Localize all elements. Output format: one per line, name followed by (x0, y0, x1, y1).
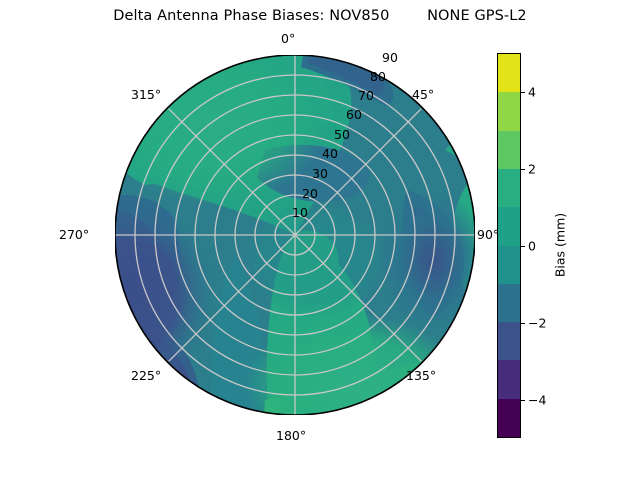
colorbar-tick-neg2 (521, 323, 525, 324)
theta-label-315: 315° (131, 87, 161, 102)
colorbar-ticklabel-4: 4 (528, 84, 536, 99)
colorbar-tick-neg4 (521, 400, 525, 401)
colorbar-band-3 (498, 284, 520, 322)
page-title: Delta Antenna Phase Biases: NOV850 NONE … (0, 8, 640, 24)
colorbar-tick-0 (521, 246, 525, 247)
colorbar-band-9 (498, 54, 520, 92)
theta-label-180: 180° (276, 428, 306, 443)
colorbar-tick-4 (521, 92, 525, 93)
r-label-90: 90 (382, 50, 398, 65)
colorbar-band-7 (498, 131, 520, 169)
theta-label-270: 270° (59, 227, 89, 242)
colorbar-axis-label: Bias (mm) (553, 213, 568, 277)
colorbar-tick-2 (521, 169, 525, 170)
r-label-70: 70 (358, 88, 374, 103)
theta-label-45: 45° (412, 87, 434, 102)
r-label-40: 40 (322, 146, 338, 161)
theta-label-225: 225° (131, 368, 161, 383)
colorbar-ticklabel-neg4: −4 (528, 392, 546, 407)
colorbar-ticklabel-0: 0 (528, 238, 536, 253)
colorbar-band-6 (498, 169, 520, 207)
theta-label-90: 90° (477, 227, 499, 242)
colorbar-band-2 (498, 322, 520, 360)
r-label-30: 30 (312, 166, 328, 181)
colorbar-ticklabel-2: 2 (528, 161, 536, 176)
contour-bloom-center-teal (245, 200, 385, 320)
r-label-80: 80 (370, 69, 386, 84)
colorbar-strip (497, 53, 521, 438)
colorbar-band-4 (498, 246, 520, 284)
colorbar-band-1 (498, 360, 520, 398)
r-label-50: 50 (334, 127, 350, 142)
colorbar-band-8 (498, 92, 520, 130)
colorbar-ticklabel-neg2: −2 (528, 315, 546, 330)
r-label-20: 20 (302, 186, 318, 201)
r-label-10: 10 (292, 205, 308, 220)
colorbar: 4 2 0 −2 −4 (497, 53, 521, 438)
theta-label-135: 135° (406, 368, 436, 383)
polar-grid (115, 55, 475, 415)
colorbar-band-5 (498, 207, 520, 245)
r-label-60: 60 (346, 107, 362, 122)
polar-plot: 0° 45° 90° 135° 180° 225° 270° 315° 10 2… (115, 55, 475, 415)
theta-label-0: 0° (281, 31, 295, 46)
colorbar-band-0 (498, 399, 520, 437)
polar-contour-svg (115, 55, 475, 415)
